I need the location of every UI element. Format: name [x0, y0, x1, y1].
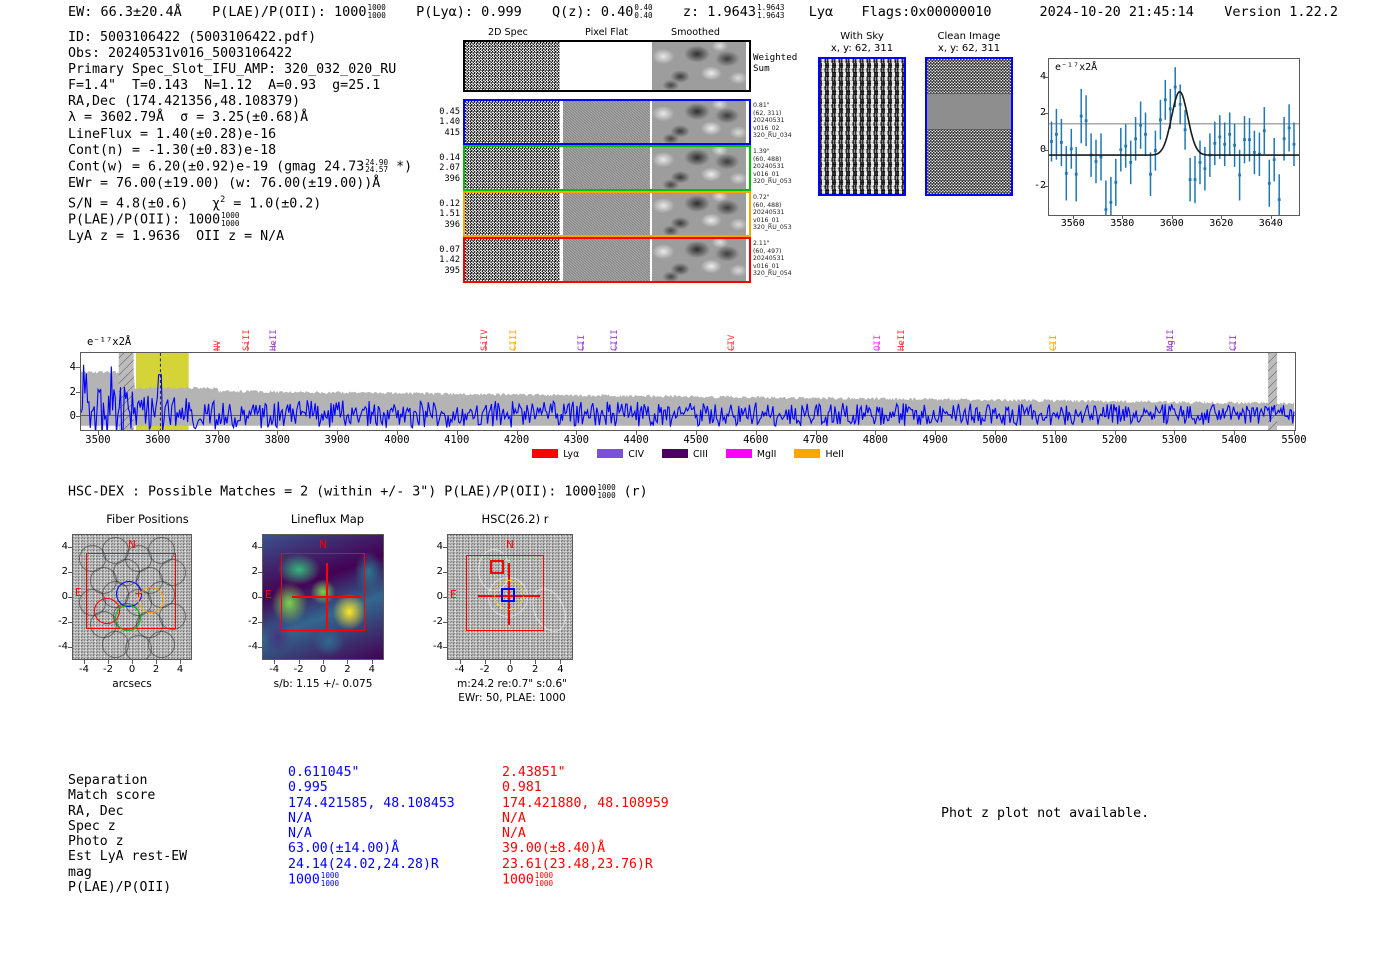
clean-image[interactable] — [925, 57, 1013, 196]
cut-ytick: -2 — [425, 616, 443, 627]
zoom-xtick: 3620 — [1205, 218, 1237, 229]
match-value: 39.00(±8.40)Å — [502, 841, 669, 856]
header-timestamp-version: 2024-10-20 21:45:14 Version 1.22.2 — [1039, 4, 1338, 20]
with-sky-panel: With Sky x, y: 62, 311 — [818, 31, 906, 196]
info-lineflux: LineFlux = 1.40(±0.28)e-16 — [68, 127, 412, 143]
fullspec-xtick-mark — [1055, 431, 1056, 435]
match-value: N/A — [288, 811, 455, 826]
fullspec-xtick: 3900 — [317, 434, 357, 446]
zoom-ytick-mark — [1044, 186, 1048, 187]
cut-xtick-mark — [108, 660, 109, 664]
full-spectrum-units: e⁻¹⁷x2Å — [87, 336, 131, 348]
cut-ytick-mark — [443, 647, 447, 648]
fullspec-xtick: 4900 — [915, 434, 955, 446]
legend-swatch-CIV — [597, 449, 623, 458]
legend-swatch-HeII — [794, 449, 820, 458]
cut-ytick: 4 — [425, 541, 443, 552]
emission-line-tick-CIII: | — [613, 342, 618, 352]
emission-line-tick-CII: | — [1231, 342, 1236, 352]
info-gmag-range: 24.9024.57 — [365, 159, 388, 174]
fullspec-xtick: 4300 — [556, 434, 596, 446]
zoom-xtick: 3600 — [1156, 218, 1188, 229]
cut-ytick: 4 — [50, 541, 68, 552]
emission-line-tick-CII: | — [580, 342, 585, 352]
cut-ytick: 0 — [425, 591, 443, 602]
info-lambda-sigma: λ = 3602.79Å σ = 3.25(±0.68)Å — [68, 110, 412, 126]
fullspec-xtick-mark — [98, 431, 99, 435]
lineflux-map-xlabel: s/b: 1.15 +/- 0.075 — [262, 678, 384, 690]
emission-line-tick-MgII: | — [1169, 342, 1174, 352]
hsc-r-xlabel: m:24.2 re:0.7" s:0.6" — [437, 678, 587, 690]
header-line-id: Lyα — [809, 4, 833, 20]
header-plae-label: P(LAE)/P(OII): 1000 — [212, 4, 366, 20]
fullspec-xtick: 3800 — [257, 434, 297, 446]
fullspec-xtick-mark — [995, 431, 996, 435]
fiber2-left-stats: 0.14 2.07 396 — [430, 153, 460, 184]
fullspec-xtick-mark — [397, 431, 398, 435]
fullspec-xtick-mark — [636, 431, 637, 435]
fiber-strip-2[interactable]: 0.14 2.07 396 1.39" (60, 488) 20240531 v… — [463, 145, 751, 191]
info-cont-n: Cont(n) = -1.30(±0.83)e-18 — [68, 143, 412, 159]
match-value: 23.61(23.48,23.76)R — [502, 857, 669, 872]
header-summary-line: EW: 66.3±20.4Å P(LAE)/P(OII): 1000100010… — [68, 4, 992, 20]
header-qz-label: Q(z): 0.40 — [552, 4, 633, 20]
fiber1-meta: 0.81" (62, 311) 20240531 v016_02 320_RU_… — [753, 102, 811, 140]
fullspec-xtick-mark — [158, 431, 159, 435]
fullspec-xtick-mark — [1234, 431, 1235, 435]
zoom-xtick: 3580 — [1106, 218, 1138, 229]
target-marker-plus: + — [134, 591, 143, 597]
emission-line-tick-SiII: | — [245, 342, 250, 352]
hscdex-filter: (r) — [624, 485, 648, 500]
emission-line-tick-OII: | — [876, 342, 881, 352]
fullspec-ytick: 0 — [58, 410, 76, 422]
emission-line-tick-SiIV: | — [483, 342, 488, 352]
fiber4-meta: 2.11" (60, 497) 20240531 v016_01 320_RU_… — [753, 240, 811, 278]
match-table: SeparationMatch scoreRA, DecSpec zPhoto … — [68, 773, 187, 895]
cut-ytick: 4 — [240, 541, 258, 552]
fullspec-ytick: 4 — [58, 361, 76, 373]
emission-line-tick-HeII: | — [900, 342, 905, 352]
match-table-label: Est LyA rest-EW — [68, 849, 187, 864]
hsc-r-title: HSC(26.2) r — [425, 512, 605, 526]
hscdex-plae-range: 10001000 — [597, 484, 615, 499]
legend-item-HeII: HeII — [794, 449, 843, 460]
cut-xtick-mark — [510, 660, 511, 664]
compass-e-hsc: E — [450, 589, 457, 601]
fiber-strip-4[interactable]: 0.07 1.42 395 2.11" (60, 497) 20240531 v… — [463, 237, 751, 283]
fullspec-xtick-mark — [457, 431, 458, 435]
info-id: ID: 5003106422 (5003106422.pdf) — [68, 30, 412, 46]
cut-xtick-mark — [372, 660, 373, 664]
match-table-label: Match score — [68, 788, 187, 803]
zoom-ytick-mark — [1044, 77, 1048, 78]
fiber-positions-title: Fiber Positions — [60, 512, 235, 526]
fullspec-xtick: 4100 — [437, 434, 477, 446]
compass-n-fiberpos: N — [128, 539, 136, 551]
fullspec-xtick-mark — [1294, 431, 1295, 435]
cut-xtick-mark — [156, 660, 157, 664]
hsc-r-image[interactable]: N E — [447, 534, 573, 660]
match-value: 0.981 — [502, 780, 669, 795]
zoom-spectrum-axes — [1048, 58, 1300, 216]
fiber1-pixelflat — [563, 101, 649, 143]
match-table-label: Spec z — [68, 819, 187, 834]
fullspec-xtick: 4400 — [616, 434, 656, 446]
zoom-xtick: 3640 — [1255, 218, 1287, 229]
legend-item-MgII: MgII — [726, 449, 777, 460]
match-table-label: Separation — [68, 773, 187, 788]
fullspec-xtick-mark — [337, 431, 338, 435]
legend-item-CIII: CIII — [662, 449, 708, 460]
weighted-sum-pixelflat — [563, 42, 649, 90]
header-plae-range: 10001000 — [368, 4, 386, 19]
info-ewr: EWr = 76.00(±19.00) (w: 76.00(±19.00))Å — [68, 176, 412, 192]
legend-swatch-MgII — [726, 449, 752, 458]
zoom-xtick-mark — [1271, 215, 1272, 219]
montage-title-pixelflat: Pixel Flat — [585, 27, 628, 38]
match-table-label: RA, Dec — [68, 804, 187, 819]
cut-xtick-mark — [84, 660, 85, 664]
match-value: 174.421585, 48.108453 — [288, 796, 455, 811]
header-timestamp: 2024-10-20 21:45:14 — [1039, 4, 1193, 20]
match-plae-value: 1000 — [288, 873, 320, 888]
cut-ytick-mark — [258, 597, 262, 598]
fullspec-xtick: 3500 — [78, 434, 118, 446]
zoom-xtick: 3560 — [1057, 218, 1089, 229]
fullspec-xtick: 4700 — [796, 434, 836, 446]
spec2d-montage: 2D Spec Pixel Flat Smoothed Weighted Sum… — [463, 40, 753, 283]
cut-xtick: 4 — [356, 664, 388, 675]
with-sky-title: With Sky — [818, 31, 906, 43]
cut-xtick: 4 — [544, 664, 576, 675]
fullspec-xtick-mark — [935, 431, 936, 435]
info-plae-range: 10001000 — [221, 212, 239, 227]
lineflux-map-image[interactable]: N E — [262, 534, 384, 660]
cut-ytick-mark — [443, 572, 447, 573]
hscdex-headline-text: HSC-DEX : Possible Matches = 2 (within +… — [68, 485, 596, 500]
cut-xtick-mark — [560, 660, 561, 664]
emission-line-tick-CIV: | — [729, 342, 734, 352]
header-version: Version 1.22.2 — [1224, 4, 1338, 20]
fullspec-xtick-mark — [816, 431, 817, 435]
legend-label-HeII: HeII — [825, 449, 843, 460]
info-obs: Obs: 20240531v016_5003106422 — [68, 46, 412, 62]
full-spectrum-plot[interactable]: e⁻¹⁷x2Å NV|SiII|HeII|SiIV|CIII|CII|CIII|… — [80, 352, 1296, 431]
match-value: N/A — [502, 811, 669, 826]
match-value: 100010001000 — [502, 872, 669, 888]
info-seeing-params: F=1.4" T=0.143 N=1.12 A=0.93 g=25.1 — [68, 78, 412, 94]
zoom-spectrum-plot[interactable]: e⁻¹⁷x2Å -2024 35603580360036203640 — [1048, 58, 1300, 216]
legend-item-Lyα: Lyα — [532, 449, 579, 460]
cut-xtick-mark — [299, 660, 300, 664]
fullspec-xtick-mark — [1174, 431, 1175, 435]
cut-ytick-mark — [443, 622, 447, 623]
legend-swatch-Lyα — [532, 449, 558, 458]
fiber4-pixelflat — [563, 239, 649, 281]
fullspec-xtick: 5000 — [975, 434, 1015, 446]
cut-ytick-mark — [68, 647, 72, 648]
fiber-positions-xlabel: arcsecs — [72, 678, 192, 690]
cut-ytick: -4 — [240, 641, 258, 652]
fullspec-xtick-mark — [277, 431, 278, 435]
match-value: 0.611045" — [288, 765, 455, 780]
compass-e-fiberpos: E — [75, 587, 82, 599]
fullspec-xtick: 4500 — [676, 434, 716, 446]
fullspec-xtick: 5200 — [1095, 434, 1135, 446]
fullspec-xtick-mark — [875, 431, 876, 435]
montage-title-2dspec: 2D Spec — [488, 27, 528, 38]
cut-ytick-mark — [68, 572, 72, 573]
zoom-spectrum-svg — [1049, 59, 1299, 215]
fullspec-xtick-mark — [576, 431, 577, 435]
cut-ytick-mark — [258, 547, 262, 548]
fiber2-pixelflat — [563, 147, 649, 189]
match-table-label: mag — [68, 865, 187, 880]
fullspec-xtick: 4000 — [377, 434, 417, 446]
compass-e-lineflux: E — [265, 589, 272, 601]
fiber3-pixelflat — [563, 193, 649, 235]
zoom-xtick-mark — [1073, 215, 1074, 219]
header-z-label: z: 1.9643 — [683, 4, 756, 20]
clean-image-title: Clean Image — [925, 31, 1013, 43]
fiber1-2dspec — [465, 101, 560, 143]
weighted-sum-label: Weighted Sum — [753, 52, 811, 74]
fullspec-ytick-mark — [76, 392, 80, 393]
with-sky-subtitle: x, y: 62, 311 — [818, 43, 906, 55]
info-radec: RA,Dec (174.421356,48.108379) — [68, 94, 412, 110]
cut-ytick: 0 — [50, 591, 68, 602]
emission-line-tick-CII: | — [1051, 342, 1056, 352]
legend-label-Lyα: Lyα — [563, 449, 579, 460]
fiber-positions-image[interactable]: + N E — [72, 534, 192, 660]
cut-ytick-mark — [68, 622, 72, 623]
full-spectrum-legend: LyαCIVCIIIMgIIHeII — [80, 449, 1296, 460]
match-value: 0.995 — [288, 780, 455, 795]
legend-label-MgII: MgII — [757, 449, 777, 460]
photz-plot-message: Phot z plot not available. — [941, 806, 1149, 821]
fiber3-left-stats: 0.12 1.51 396 — [430, 199, 460, 230]
header-plya: P(Lyα): 0.999 — [416, 4, 522, 20]
lineflux-map-title: Lineflux Map — [240, 512, 415, 526]
legend-label-CIII: CIII — [693, 449, 708, 460]
fullspec-ytick-mark — [76, 367, 80, 368]
weighted-sum-smoothed — [652, 42, 746, 90]
clean-image-sky-band — [927, 94, 1011, 129]
fiber3-2dspec — [465, 193, 560, 235]
fiber-positions-panel: Fiber Positions + N E 420-2-4 -4-2024 ar… — [60, 512, 235, 712]
cut-ytick-mark — [68, 547, 72, 548]
cut-ytick: 0 — [240, 591, 258, 602]
match-value: N/A — [502, 826, 669, 841]
fullspec-xtick: 5100 — [1035, 434, 1075, 446]
fiber-strip-3[interactable]: 0.12 1.51 396 0.72" (60, 488) 20240531 v… — [463, 191, 751, 237]
match-value: N/A — [288, 826, 455, 841]
cut-xtick-mark — [535, 660, 536, 664]
hsc-match-1-marker[interactable] — [501, 588, 515, 602]
hsc-r-sublabel: EWr: 50, PLAE: 1000 — [437, 692, 587, 704]
clean-image-subtitle: x, y: 62, 311 — [925, 43, 1013, 55]
fullspec-xtick: 4800 — [855, 434, 895, 446]
fiber1-left-stats: 0.45 1.40 415 — [430, 107, 460, 138]
header-ew: EW: 66.3±20.4Å — [68, 4, 182, 20]
fullspec-xtick: 4600 — [736, 434, 776, 446]
fullspec-ytick: 2 — [58, 386, 76, 398]
zoom-xtick-mark — [1172, 215, 1173, 219]
fiber2-meta: 1.39" (60, 488) 20240531 v016_01 320_RU_… — [753, 148, 811, 186]
weighted-sum-strip: Weighted Sum — [463, 40, 751, 92]
match-table-column-1: 0.611045"0.995174.421585, 48.108453N/AN/… — [288, 765, 455, 888]
cut-ytick-mark — [258, 572, 262, 573]
fullspec-xtick-mark — [1115, 431, 1116, 435]
match-plae-range: 10001000 — [535, 872, 553, 887]
match-table-label: Photo z — [68, 834, 187, 849]
fullspec-xtick: 5300 — [1154, 434, 1194, 446]
lineflux-map-panel: Lineflux Map N E 420-2-4 -4-2024 s/b: 1.… — [240, 512, 415, 712]
hsc-r-panel: HSC(26.2) r N E 420-2-4 -4-2024 m:24.2 r… — [425, 512, 605, 722]
fullspec-xtick-mark — [218, 431, 219, 435]
legend-item-CIV: CIV — [597, 449, 644, 460]
fiber4-smoothed — [652, 239, 746, 281]
zoom-xtick-mark — [1221, 215, 1222, 219]
match-table-labels: SeparationMatch scoreRA, DecSpec zPhoto … — [68, 773, 187, 895]
match-table-label: P(LAE)/P(OII) — [68, 880, 187, 895]
detection-info-block: ID: 5003106422 (5003106422.pdf) Obs: 202… — [68, 30, 412, 245]
match-value: 24.14(24.02,24.28)R — [288, 857, 455, 872]
compass-n-lineflux: N — [319, 539, 327, 551]
fullspec-xtick: 3600 — [138, 434, 178, 446]
montage-title-smoothed: Smoothed — [671, 27, 720, 38]
info-primary-spec-slot: Primary Spec_Slot_IFU_AMP: 320_032_020_R… — [68, 62, 412, 78]
cut-ytick: -2 — [240, 616, 258, 627]
emission-line-tick-CIII: | — [511, 342, 516, 352]
cut-ytick: 2 — [50, 566, 68, 577]
cut-xtick-mark — [347, 660, 348, 664]
cut-xtick-mark — [485, 660, 486, 664]
info-plae: P(LAE)/P(OII): 100010001000 — [68, 212, 412, 229]
cut-ytick: -4 — [425, 641, 443, 652]
match-table-column-2: 2.43851"0.981174.421880, 48.108959N/AN/A… — [502, 765, 669, 888]
hscdex-headline: HSC-DEX : Possible Matches = 2 (within +… — [68, 484, 648, 500]
cut-xtick-mark — [274, 660, 275, 664]
fullspec-xtick-mark — [696, 431, 697, 435]
match-plae-range: 10001000 — [321, 872, 339, 887]
cut-ytick-mark — [443, 547, 447, 548]
fiber3-smoothed — [652, 193, 746, 235]
cut-xtick-mark — [323, 660, 324, 664]
fullspec-xtick: 5500 — [1274, 434, 1314, 446]
cut-xtick: 4 — [164, 664, 196, 675]
clean-image-panel: Clean Image x, y: 62, 311 — [925, 31, 1013, 196]
cut-ytick-mark — [443, 597, 447, 598]
fullspec-xtick-mark — [517, 431, 518, 435]
fiber-strip-1[interactable]: 0.45 1.40 415 0.81" (62, 311) 20240531 v… — [463, 99, 751, 145]
match-value: 2.43851" — [502, 765, 669, 780]
cut-ytick: -2 — [50, 616, 68, 627]
fiber4-2dspec — [465, 239, 560, 281]
match-plae-value: 1000 — [502, 873, 534, 888]
match-value: 63.00(±14.00)Å — [288, 841, 455, 856]
zoom-ytick-mark — [1044, 150, 1048, 151]
cut-ytick: 2 — [425, 566, 443, 577]
cut-ytick-mark — [258, 622, 262, 623]
fiber3-meta: 0.72" (60, 488) 20240531 v016_01 320_RU_… — [753, 194, 811, 232]
header-flags: Flags:0x00000010 — [861, 4, 991, 20]
header-qz-range: 0.400.40 — [634, 4, 652, 19]
emission-line-tick-HeII: | — [272, 342, 277, 352]
fullspec-xtick: 3700 — [198, 434, 238, 446]
fullspec-xtick: 5400 — [1214, 434, 1254, 446]
weighted-sum-2dspec — [465, 42, 560, 90]
cut-ytick: 2 — [240, 566, 258, 577]
full-spectrum-axes — [80, 352, 1296, 431]
zoom-xtick-mark — [1122, 215, 1123, 219]
fiber4-left-stats: 0.07 1.42 395 — [430, 245, 460, 276]
info-snr-chi2: S/N = 4.8(±0.6) χ2 = 1.0(±0.2) — [68, 192, 412, 213]
fiber2-2dspec — [465, 147, 560, 189]
zoom-spectrum-units: e⁻¹⁷x2Å — [1055, 62, 1097, 73]
montage-titles: 2D Spec Pixel Flat Smoothed — [463, 27, 753, 39]
cut-xtick-mark — [460, 660, 461, 664]
fullspec-ytick-mark — [76, 416, 80, 417]
emission-line-tick-NV: | — [215, 342, 220, 352]
fiber-circle-2[interactable] — [115, 605, 141, 631]
compass-n-hsc: N — [506, 539, 514, 551]
match-value: 174.421880, 48.108959 — [502, 796, 669, 811]
cut-xtick-mark — [132, 660, 133, 664]
zoom-ytick-mark — [1044, 113, 1048, 114]
fiber2-smoothed — [652, 147, 746, 189]
legend-swatch-CIII — [662, 449, 688, 458]
header-z-range: 1.96431.9643 — [757, 4, 784, 19]
cut-ytick-mark — [258, 647, 262, 648]
fiber1-smoothed — [652, 101, 746, 143]
full-spectrum-svg — [81, 353, 1295, 430]
with-sky-image[interactable] — [818, 57, 906, 196]
fullspec-xtick-mark — [756, 431, 757, 435]
fullspec-xtick: 4200 — [497, 434, 537, 446]
match-value: 100010001000 — [288, 872, 455, 888]
cut-xtick-mark — [180, 660, 181, 664]
info-redshifts: LyA z = 1.9636 OII z = N/A — [68, 229, 412, 245]
fiber-grid-circle — [148, 631, 175, 658]
cut-ytick: -4 — [50, 641, 68, 652]
hsc-match-2-marker[interactable] — [490, 560, 504, 574]
info-cont-w: Cont(w) = 6.20(±0.92)e-19 (gmag 24.7324.… — [68, 159, 412, 176]
legend-label-CIV: CIV — [628, 449, 644, 460]
cut-ytick-mark — [68, 597, 72, 598]
